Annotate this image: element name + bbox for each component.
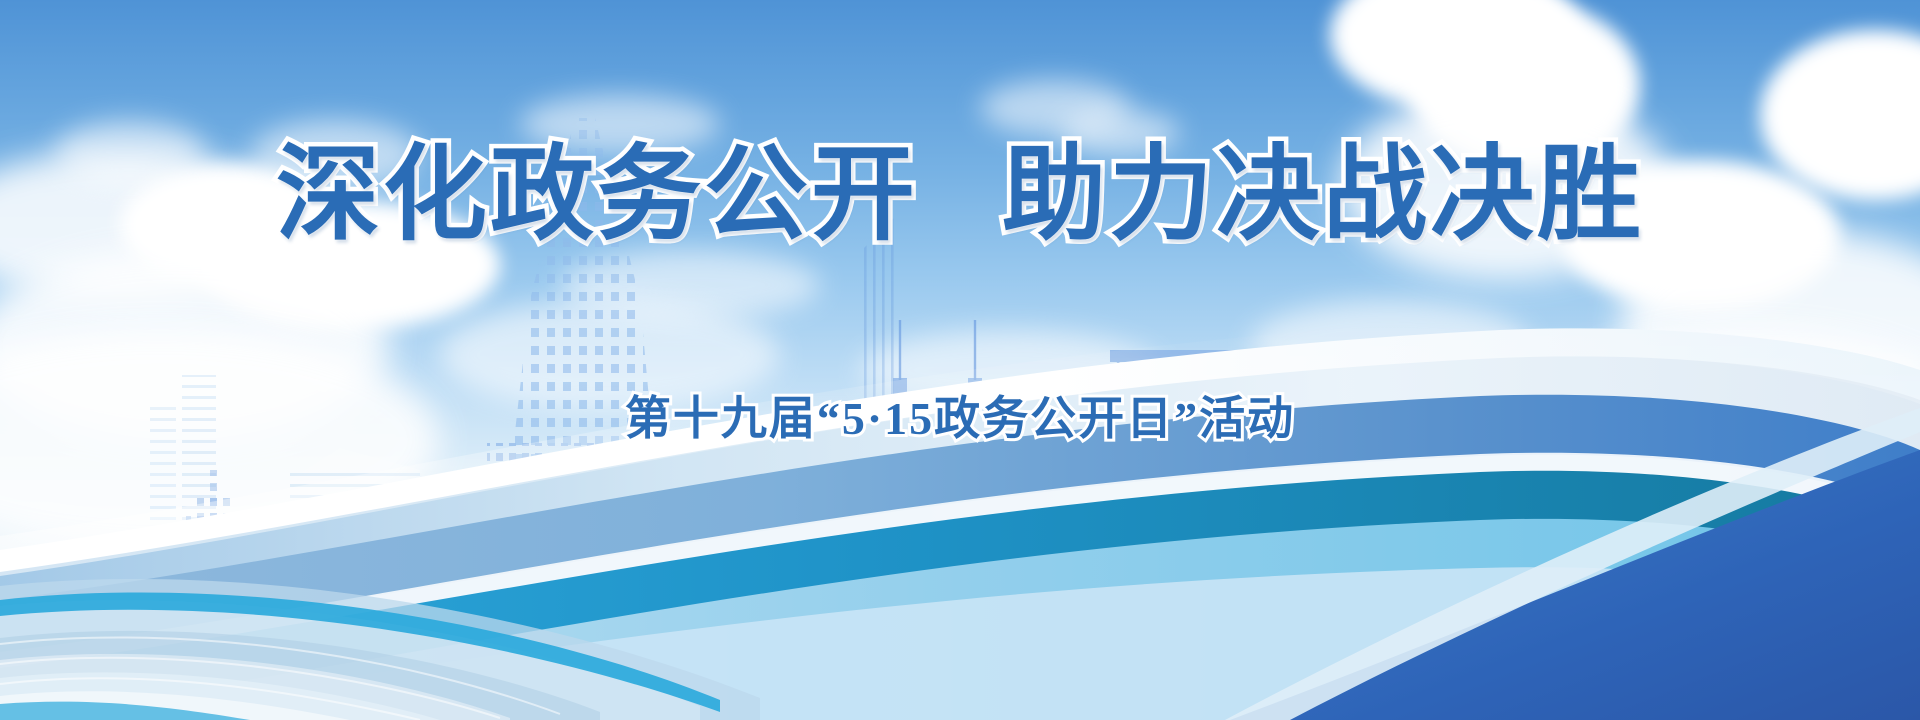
wave-graphic	[0, 300, 1920, 720]
government-openness-day-banner: 深化政务公开 助力决战决胜 第十九届“5·15政务公开日”活动	[0, 0, 1920, 720]
